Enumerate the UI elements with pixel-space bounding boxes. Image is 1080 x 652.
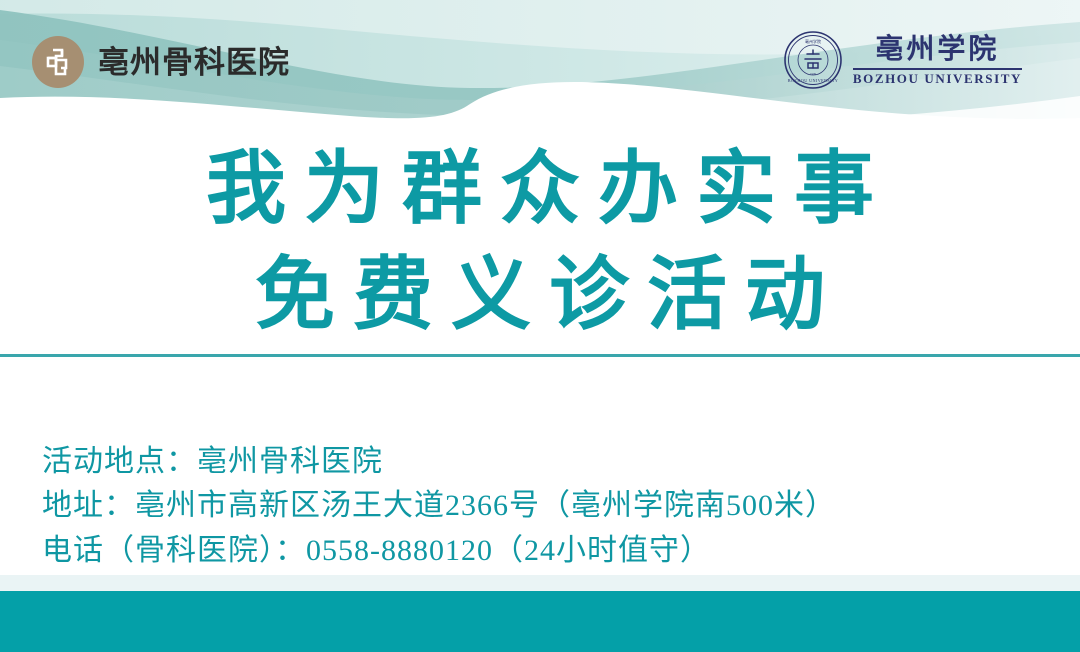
svg-text:1909: 1909 — [810, 72, 817, 76]
detail-address: 地址：亳州市高新区汤王大道2366号（亳州学院南500米） — [42, 484, 1042, 528]
header-banner: 亳州骨科医院 亳州学院 BOZHOU UNIVERSITY 1909 — [0, 0, 1080, 122]
university-wordmark: 亳州学院 BOZHOU UNIVERSITY — [853, 35, 1022, 84]
svg-text:BOZHOU UNIVERSITY: BOZHOU UNIVERSITY — [788, 78, 838, 83]
footer-bar — [0, 591, 1080, 652]
university-rule — [853, 68, 1022, 70]
svg-text:亳州学院: 亳州学院 — [805, 38, 821, 44]
university-seal-icon: 亳州学院 BOZHOU UNIVERSITY 1909 — [783, 30, 843, 90]
headline-line-1: 我为群众办实事 — [0, 138, 1080, 244]
university-brand: 亳州学院 BOZHOU UNIVERSITY 1909 亳州学院 BOZHOU … — [783, 30, 1022, 90]
university-name-en: BOZHOU UNIVERSITY — [853, 72, 1022, 85]
headline-block: 我为群众办实事 免费义诊活动 — [0, 138, 1080, 349]
detail-phone: 电话（骨科医院）：0558-8880120（24小时值守） — [42, 529, 1042, 573]
hospital-brand: 亳州骨科医院 — [32, 36, 290, 88]
headline-divider — [0, 354, 1080, 357]
university-name-cn: 亳州学院 — [875, 35, 999, 64]
medical-cross-circle-icon — [32, 36, 84, 88]
poster-canvas: 亳州骨科医院 亳州学院 BOZHOU UNIVERSITY 1909 — [0, 0, 1080, 652]
headline-line-2: 免费义诊活动 — [0, 244, 1080, 350]
event-details: 活动地点：亳州骨科医院 地址：亳州市高新区汤王大道2366号（亳州学院南500米… — [42, 440, 1042, 573]
detail-venue: 活动地点：亳州骨科医院 — [42, 440, 1042, 484]
hospital-name: 亳州骨科医院 — [98, 47, 290, 78]
footer-hairline — [0, 575, 1080, 591]
